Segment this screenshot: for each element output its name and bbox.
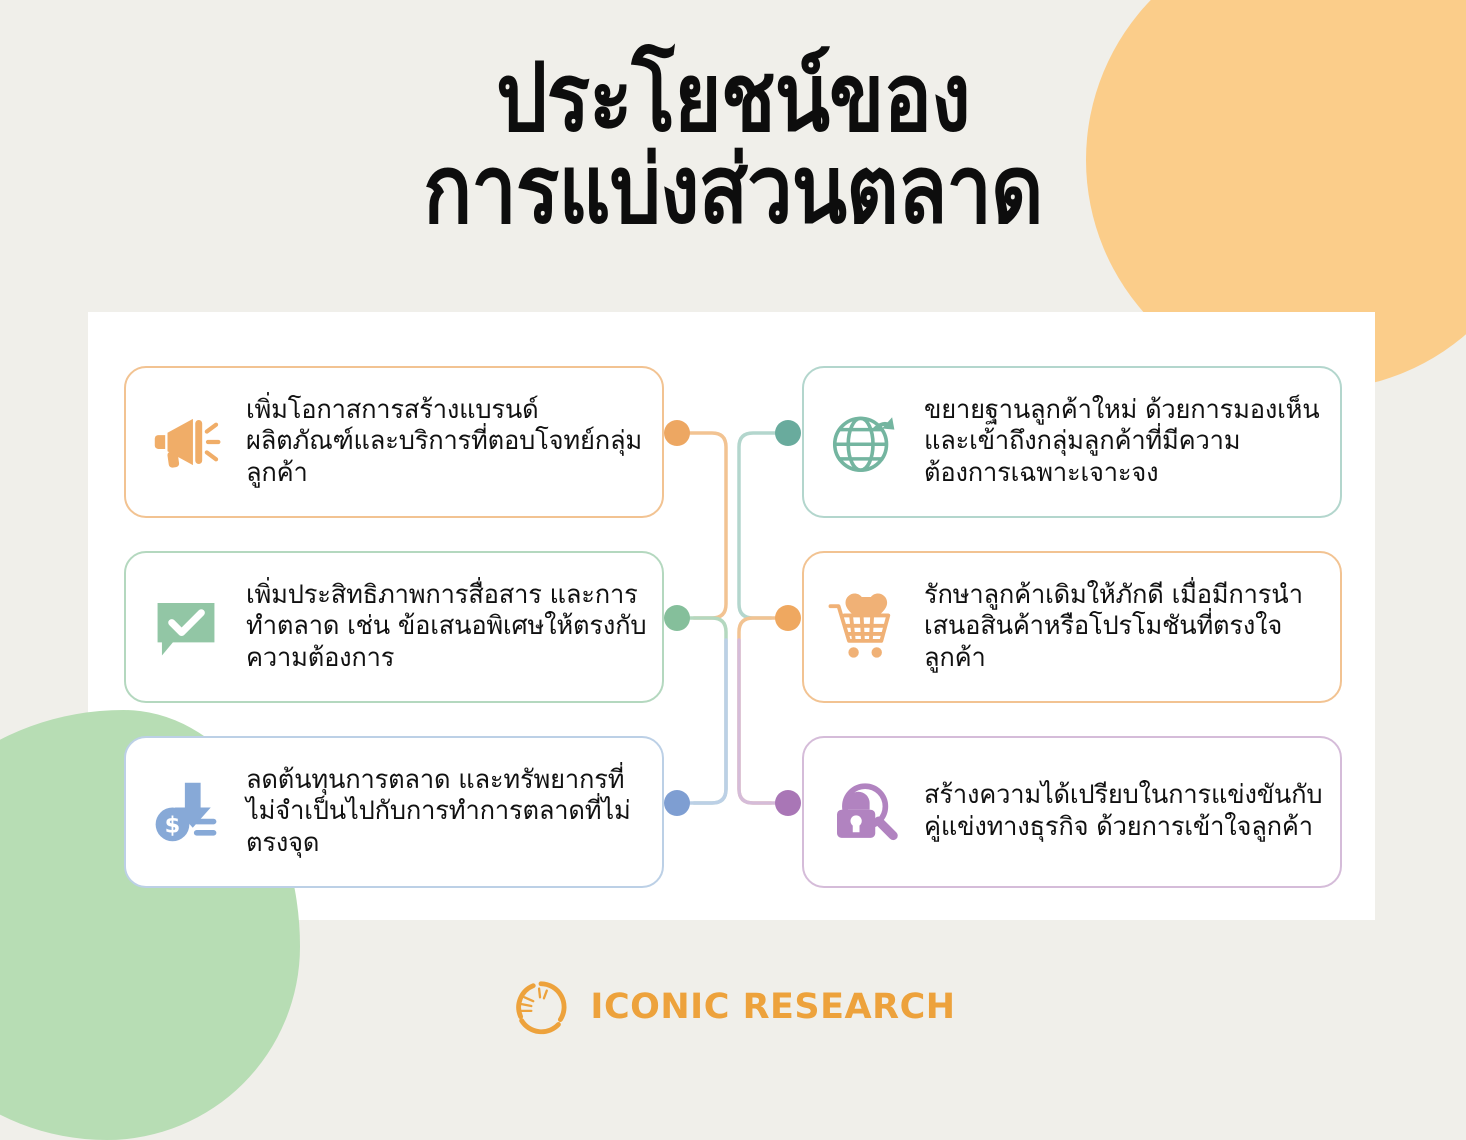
brand-logo: ICONIC RESEARCH [0, 976, 1466, 1038]
brand-name: ICONIC RESEARCH [590, 987, 955, 1027]
benefit-card-competitive-advantage[interactable]: สร้างความได้เปรียบในการแข่งขันกับคู่แข่ง… [802, 736, 1342, 888]
benefit-card-text: รักษาลูกค้าเดิมให้ภักดี เมื่อมีการนำเสนอ… [924, 580, 1340, 675]
check-bubble-icon [126, 592, 246, 662]
infographic-stage: ประโยชน์ของ การแบ่งส่วนตลาด [0, 0, 1466, 1080]
benefit-card-communication-efficiency[interactable]: เพิ่มประสิทธิภาพการสื่อสาร และการทำตลาด … [124, 551, 664, 703]
benefit-card-customer-loyalty[interactable]: รักษาลูกค้าเดิมให้ภักดี เมื่อมีการนำเสนอ… [802, 551, 1342, 703]
benefit-card-new-customer-base[interactable]: ขยายฐานลูกค้าใหม่ ด้วยการมองเห็นและเข้าถ… [802, 366, 1342, 518]
benefit-card-cost-reduction[interactable]: $ ลดต้นทุนการตลาด และทรัพยากรที่ไม่จำเป็… [124, 736, 664, 888]
benefit-card-text: ขยายฐานลูกค้าใหม่ ด้วยการมองเห็นและเข้าถ… [924, 395, 1340, 490]
money-down-icon: $ [126, 776, 246, 848]
benefit-card-text: สร้างความได้เปรียบในการแข่งขันกับคู่แข่ง… [924, 780, 1340, 843]
page-title: ประโยชน์ของ การแบ่งส่วนตลาด [103, 52, 1364, 236]
megaphone-icon [126, 405, 246, 479]
lock-search-icon [804, 776, 924, 848]
cart-heart-icon [804, 590, 924, 664]
title-line-2: การแบ่งส่วนตลาด [103, 144, 1364, 236]
svg-text:$: $ [165, 812, 181, 838]
donut-ring-icon [510, 976, 572, 1038]
benefit-card-brand-opportunity[interactable]: เพิ่มโอกาสการสร้างแบรนด์ ผลิตภัณฑ์และบริ… [124, 366, 664, 518]
benefit-card-text: ลดต้นทุนการตลาด และทรัพยากรที่ไม่จำเป็นไ… [246, 765, 662, 860]
benefit-card-text: เพิ่มโอกาสการสร้างแบรนด์ ผลิตภัณฑ์และบริ… [246, 395, 662, 490]
benefit-card-text: เพิ่มประสิทธิภาพการสื่อสาร และการทำตลาด … [246, 580, 662, 675]
globe-arrow-icon [804, 406, 924, 478]
